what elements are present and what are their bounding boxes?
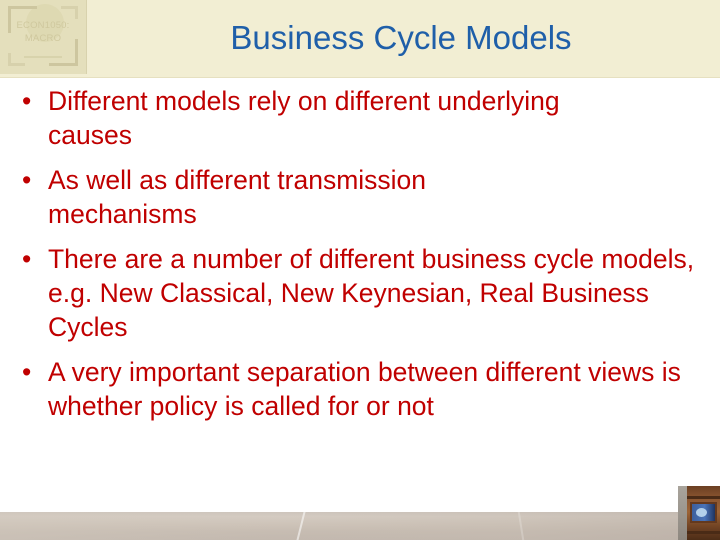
logo-underbar — [24, 56, 62, 58]
footer-photo-strip — [0, 512, 720, 540]
bullet-text: Different models rely on different under… — [48, 84, 568, 152]
bullet-marker-icon: • — [22, 163, 48, 197]
slide-title: Business Cycle Models — [96, 16, 706, 60]
thumbnail-television-icon — [690, 502, 717, 523]
logo-course-subject: MACRO — [0, 32, 86, 45]
corner-thumbnail-image — [678, 486, 720, 540]
bullet-text: As well as different transmission mechan… — [48, 163, 568, 231]
bullet-item: • There are a number of different busine… — [22, 242, 702, 344]
slide-header-band: ECON1050: MACRO Business Cycle Models — [0, 0, 720, 78]
bullet-marker-icon: • — [22, 355, 48, 389]
bullet-item: • As well as different transmission mech… — [22, 163, 702, 231]
bullet-marker-icon: • — [22, 84, 48, 118]
logo-bracket-bottom-left-icon — [8, 53, 25, 66]
thumbnail-shelf-bottom — [687, 531, 720, 534]
bullet-text: There are a number of different business… — [48, 242, 696, 344]
thumbnail-shelf-top — [687, 496, 720, 499]
bullet-marker-icon: • — [22, 242, 48, 276]
bullet-item: • Different models rely on different und… — [22, 84, 702, 152]
bullet-item: • A very important separation between di… — [22, 355, 702, 423]
bullet-text: A very important separation between diff… — [48, 355, 696, 423]
presentation-slide: ECON1050: MACRO Business Cycle Models • … — [0, 0, 720, 540]
course-logo-watermark: ECON1050: MACRO — [0, 0, 87, 74]
thumbnail-wall-edge — [678, 486, 687, 540]
thumbnail-television-glow — [696, 508, 707, 517]
logo-bracket-top-right-icon — [61, 6, 78, 19]
footer-strip-wash — [0, 512, 720, 540]
logo-text-block: ECON1050: MACRO — [0, 19, 86, 45]
slide-body-bullet-list: • Different models rely on different und… — [22, 84, 702, 434]
logo-course-code: ECON1050: — [16, 20, 69, 31]
